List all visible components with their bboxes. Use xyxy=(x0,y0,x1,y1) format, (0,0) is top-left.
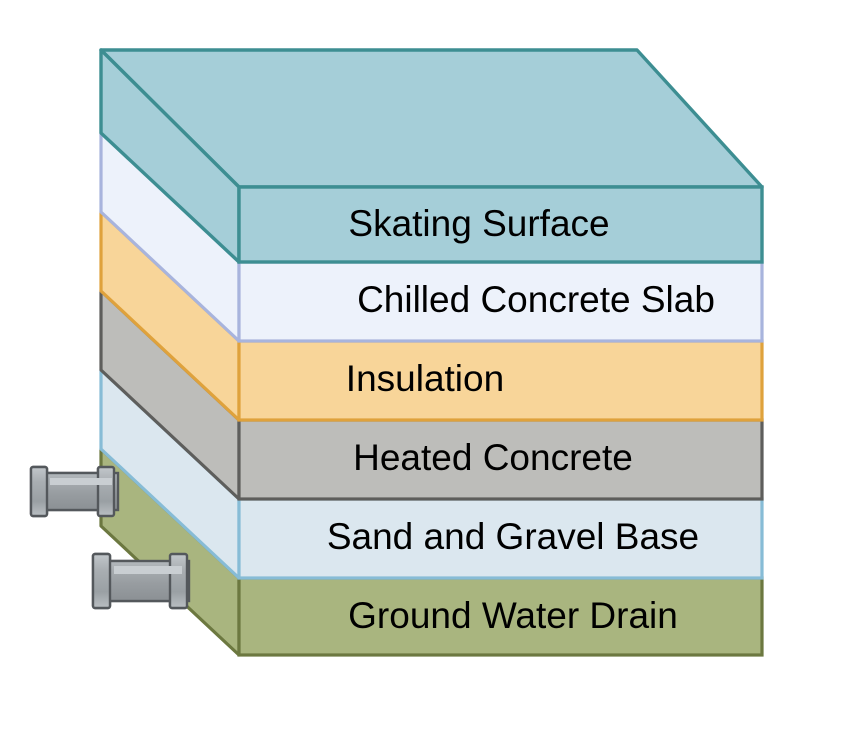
layer-label-ground-water-drain: Ground Water Drain xyxy=(348,595,678,636)
layer-label-chilled-concrete-slab: Chilled Concrete Slab xyxy=(357,279,715,320)
layer-label-insulation: Insulation xyxy=(346,358,504,399)
diagram-canvas: Ground Water Drain Sand and Gravel Base … xyxy=(0,0,854,736)
ice-rink-layer-stack-diagram: Ground Water Drain Sand and Gravel Base … xyxy=(0,0,854,736)
layer-label-heated-concrete: Heated Concrete xyxy=(353,437,633,478)
layer-label-sand-and-gravel-base: Sand and Gravel Base xyxy=(327,516,699,557)
drain-pipe-upper-overlay xyxy=(31,467,118,516)
drain-pipe-lower-overlay xyxy=(93,554,189,608)
layer-label-skating-surface: Skating Surface xyxy=(348,203,609,244)
